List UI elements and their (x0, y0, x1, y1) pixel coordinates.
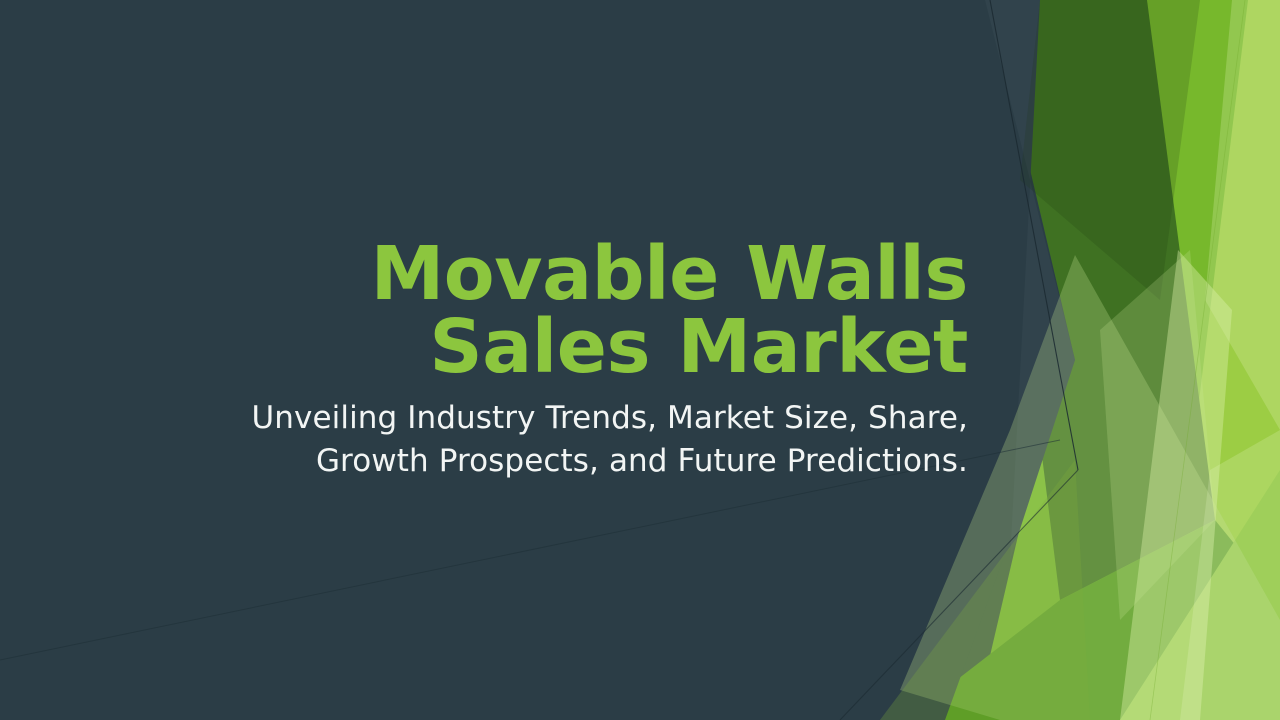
hairline-diagonal-upper (990, 0, 1078, 470)
right-mid-green-mass (905, 520, 1280, 720)
title-text-block: Movable Walls Sales Market Unveiling Ind… (130, 238, 968, 484)
hairline-diagonal-lower (840, 470, 1078, 720)
presentation-slide: Movable Walls Sales Market Unveiling Ind… (0, 0, 1280, 720)
navy-tonal-shade (985, 0, 1075, 560)
light-facet-mid (1100, 250, 1215, 620)
pale-facet-upper-right (1205, 0, 1280, 430)
dark-facet-upper (1020, 0, 1200, 300)
bottom-green-ramp (880, 460, 1090, 720)
page-title: Movable Walls Sales Market (130, 238, 968, 383)
right-bright-column (975, 0, 1248, 720)
hairline-right-facet-edge (1150, 0, 1245, 720)
right-lower-bright-sliver (1120, 470, 1280, 720)
right-forest-column (985, 0, 1215, 600)
slide-subtitle: Unveiling Industry Trends, Market Size, … (130, 397, 968, 484)
pale-vertical-facet (1120, 250, 1232, 720)
lower-right-glow-facet (1180, 430, 1280, 720)
right-pale-slab (1150, 0, 1280, 720)
left-green-wedge (0, 0, 88, 600)
